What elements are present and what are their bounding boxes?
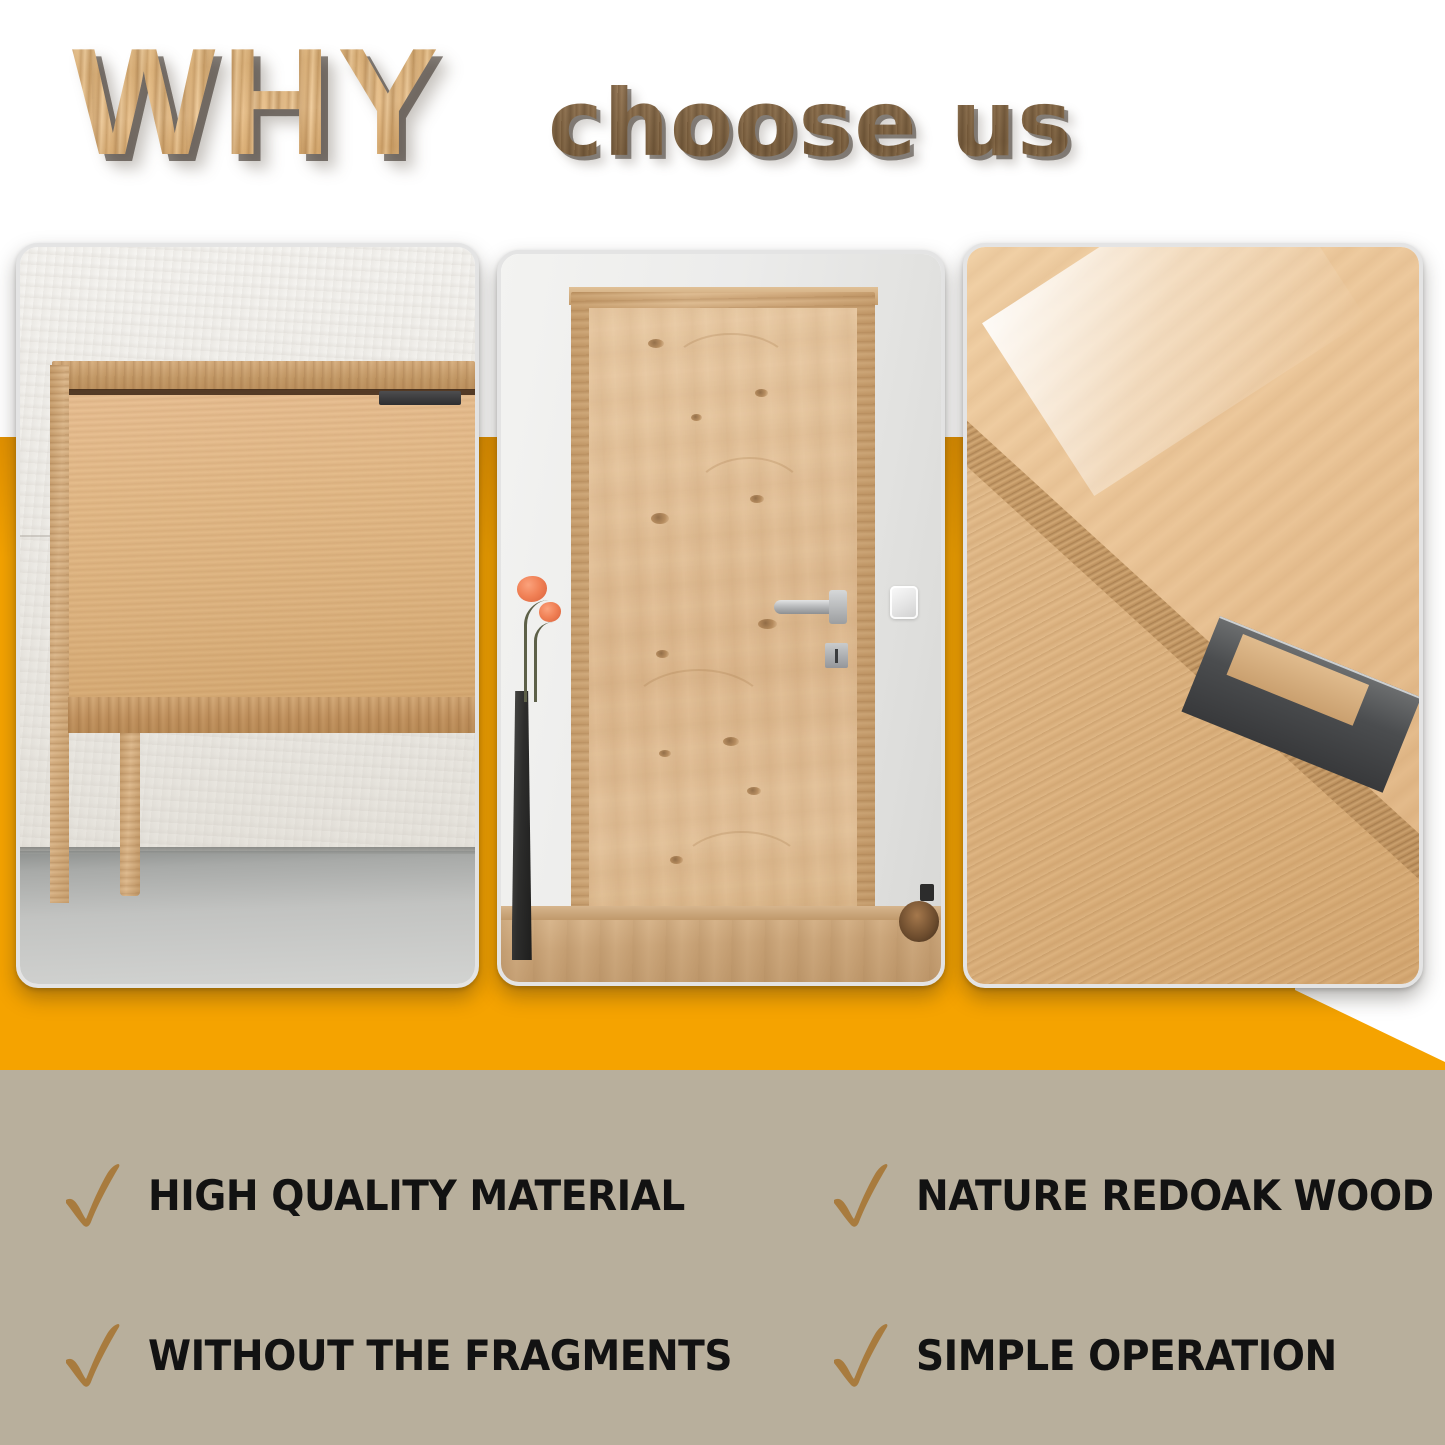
cabinet-bottom-rail (68, 697, 475, 734)
wood-floor (501, 920, 941, 982)
wood-grain-arc (670, 333, 792, 405)
card-edge-closeup[interactable] (963, 243, 1423, 988)
photo-edge-closeup (967, 247, 1419, 984)
cabinet-handle (379, 391, 461, 405)
floor-wall-junction (20, 847, 475, 854)
wood-grain-arc (627, 669, 771, 760)
wood-slice-decor (899, 901, 939, 942)
door-handle-rosette (829, 590, 847, 623)
wood-knot (656, 650, 669, 658)
poppy-flower (539, 602, 561, 622)
wood-grain-arc (691, 457, 808, 542)
flower-stem (534, 622, 553, 702)
check-icon (830, 1320, 894, 1390)
wood-knot (747, 787, 761, 795)
wood-knot (648, 339, 664, 348)
feature-label: HIGH QUALITY MATERIAL (148, 1171, 685, 1220)
wood-grain-arc (678, 831, 805, 910)
feature-label: SIMPLE OPERATION (916, 1331, 1337, 1380)
feature-item-high-quality-material: HIGH QUALITY MATERIAL (62, 1150, 725, 1240)
feature-item-without-the-fragments: WITHOUT THE FRAGMENTS (62, 1310, 776, 1400)
feature-list: HIGH QUALITY MATERIAL NATURE REDOAK WOOD… (0, 1070, 1445, 1445)
check-icon (62, 1160, 126, 1230)
door-keyhole (835, 649, 839, 664)
cabinet-leg (120, 733, 140, 895)
photo-gallery (0, 0, 1445, 1070)
photo-interior-door (501, 254, 941, 982)
door-stop (920, 884, 934, 901)
cabinet-left-frame (50, 365, 69, 903)
photo-sideboard (20, 247, 475, 984)
feature-item-simple-operation: SIMPLE OPERATION (830, 1310, 1368, 1400)
light-switch (890, 586, 917, 619)
why-choose-us-infographic: WHY choose us (0, 0, 1445, 1445)
wood-knot (691, 414, 702, 421)
feature-label: WITHOUT THE FRAGMENTS (148, 1331, 732, 1380)
feature-label: NATURE REDOAK WOOD (916, 1171, 1434, 1220)
card-sideboard[interactable] (16, 243, 479, 988)
door-leaf (589, 308, 857, 930)
floor (20, 851, 475, 984)
poppy-flower (517, 576, 547, 602)
wood-knot (651, 513, 669, 524)
check-icon (62, 1320, 126, 1390)
check-icon (830, 1160, 894, 1230)
feature-item-nature-redoak-wood: NATURE REDOAK WOOD (830, 1150, 1445, 1240)
card-interior-door[interactable] (497, 250, 945, 986)
cabinet-door-panel (68, 390, 475, 700)
wood-knot (758, 619, 777, 629)
